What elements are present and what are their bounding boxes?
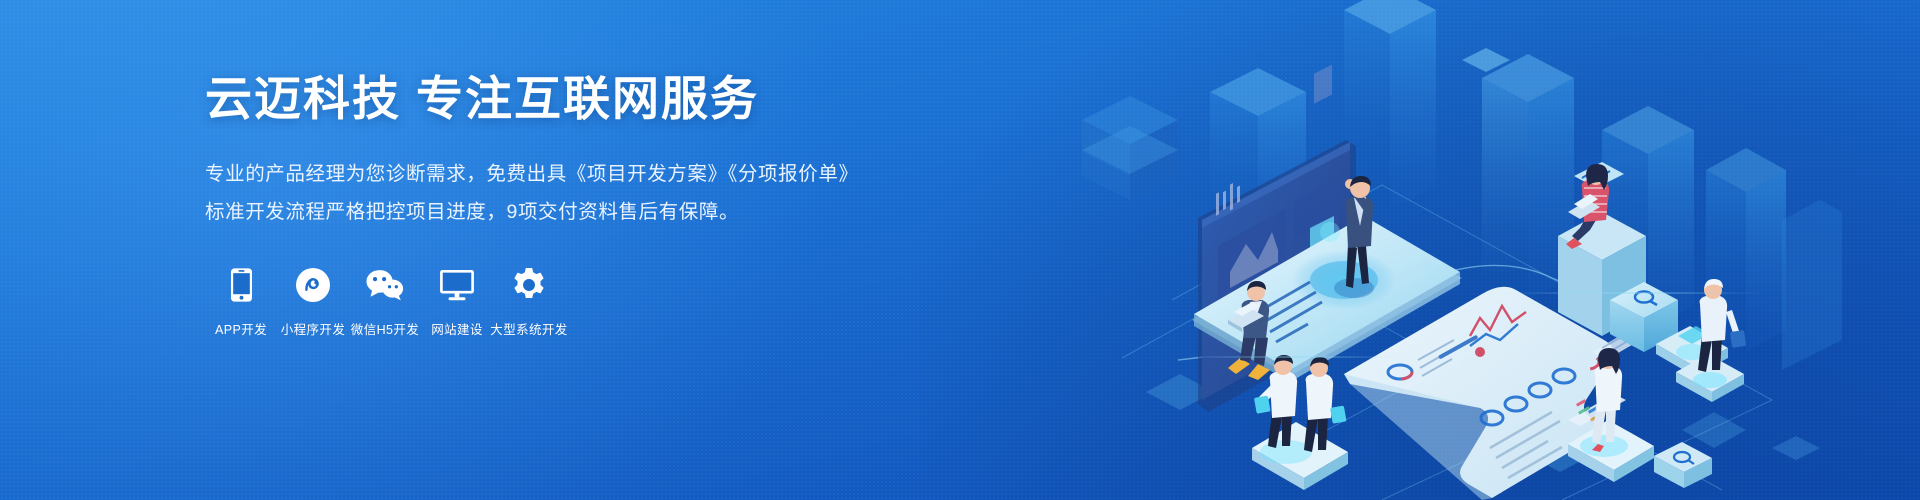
page-title: 云迈科技 专注互联网服务: [205, 72, 925, 126]
hero-subtitle: 专业的产品经理为您诊断需求，免费出具《项目开发方案》《分项报价单》 标准开发流程…: [205, 155, 925, 231]
mini-program-icon: [296, 265, 330, 305]
mobile-phone-icon: [231, 265, 252, 305]
service-item-mini-program[interactable]: 小程序开发: [277, 265, 349, 338]
monitor-icon: [440, 265, 474, 305]
subtitle-line-2: 标准开发流程严格把控项目进度，9项交付资料售后有保障。: [205, 193, 925, 231]
service-item-large-system[interactable]: 大型系统开发: [493, 265, 565, 338]
service-label: 小程序开发: [281, 319, 346, 338]
service-item-wechat-h5[interactable]: 微信H5开发: [349, 265, 421, 338]
wechat-icon: [366, 265, 404, 305]
service-label: APP开发: [215, 319, 267, 338]
service-label: 微信H5开发: [351, 319, 419, 338]
hero-content: 云迈科技 专注互联网服务 专业的产品经理为您诊断需求，免费出具《项目开发方案》《…: [205, 72, 925, 338]
subtitle-line-1: 专业的产品经理为您诊断需求，免费出具《项目开发方案》《分项报价单》: [205, 155, 925, 193]
service-label: 网站建设: [431, 319, 483, 338]
service-icon-row: APP开发 小程序开发: [205, 265, 925, 338]
gear-icon: [512, 265, 546, 305]
service-item-app[interactable]: APP开发: [205, 265, 277, 338]
hero-banner: 云迈科技 专注互联网服务 专业的产品经理为您诊断需求，免费出具《项目开发方案》《…: [0, 0, 1920, 500]
hero-illustration: [1082, 0, 1842, 500]
service-item-website[interactable]: 网站建设: [421, 265, 493, 338]
service-label: 大型系统开发: [490, 319, 567, 338]
